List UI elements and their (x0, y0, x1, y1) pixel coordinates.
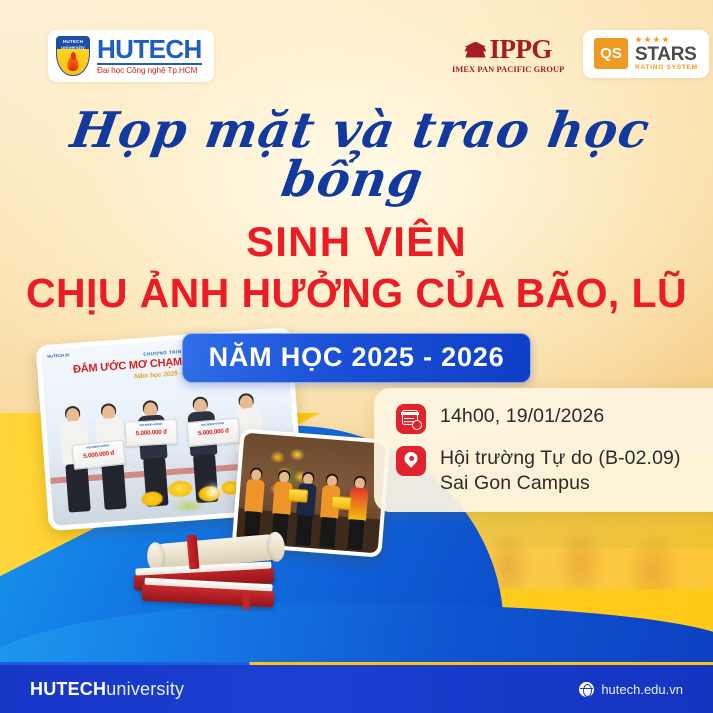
person-legs (101, 461, 126, 510)
event-info-card: 14h00, 19/01/2026 Hội trường Tự do (B-02… (374, 388, 713, 512)
award-plaque (331, 496, 352, 511)
poster-canvas: học bổng Lương Văn Can HUTECH university… (0, 0, 713, 713)
info-row-venue: Hội trường Tự do (B-02.09) Sai Gon Campu… (396, 446, 713, 496)
cheque-header: HỌC BỔNG HUTECH (126, 422, 176, 428)
qs-stars-icons (635, 36, 698, 43)
book-bottom (142, 584, 275, 608)
award-plaque (287, 488, 308, 503)
map-pin-icon (396, 446, 426, 476)
person-legs (347, 519, 364, 550)
person-body (244, 479, 265, 513)
books-and-diploma (128, 525, 318, 620)
cheque-amount: 5.000.000 đ (136, 429, 167, 438)
pin-glyph (402, 449, 420, 467)
flame-icon (68, 56, 79, 71)
headline-red-line-1: SINH VIÊN (0, 220, 713, 264)
footer-bar: HUTECHuniversity hutech.edu.vn (0, 665, 713, 713)
cheque-amount: 5.000.000 đ (83, 450, 114, 460)
headline-red-line-2: CHỊU ẢNH HƯỞNG CỦA BÃO, LŨ (0, 272, 713, 315)
person-legs (319, 517, 336, 548)
star-icon (644, 36, 651, 43)
ippg-word: IPPG (489, 36, 552, 63)
qs-tagline: RATING SYSTEM (635, 65, 698, 72)
person-legs (65, 463, 90, 512)
shield-sub-label: university (57, 45, 89, 51)
qs-text-block: STARS RATING SYSTEM (635, 36, 698, 72)
cheque-header: HỌC BỔNG HUTECH (73, 443, 123, 451)
bookmark-icon (242, 595, 250, 612)
academic-year-badge: NĂM HỌC 2025 - 2026 (182, 333, 532, 383)
flower-arrangement (126, 466, 249, 519)
globe-icon (579, 682, 594, 697)
star-icon (662, 36, 669, 43)
venue-line-1: Hội trường Tự do (B-02.09) (440, 447, 681, 469)
hutech-logo: HUTECH university HUTECH Đại học Công ng… (48, 30, 214, 82)
hutech-shield-icon: HUTECH university (56, 36, 90, 76)
qs-stars-logo: QS STARS RATING SYSTEM (583, 30, 709, 78)
info-row-datetime: 14h00, 19/01/2026 (396, 404, 713, 434)
ippg-row: IPPG (464, 36, 552, 63)
calendar-clock-icon (396, 404, 426, 434)
cheque-amount: 5.000.000 đ (198, 427, 229, 437)
footer-brand: HUTECHuniversity (30, 679, 184, 700)
cheque: HỌC BỔNG HUTECH 5.000.000 đ (125, 419, 178, 447)
star-icon (635, 36, 642, 43)
footer-brand-bold: HUTECH (30, 679, 106, 699)
ippg-crown-icon (464, 42, 486, 58)
ippg-tagline: IMEX PAN PACIFIC GROUP (452, 65, 564, 74)
qs-word: STARS (635, 45, 698, 64)
hutech-wordmark: HUTECH Đại học Công nghệ Tp.HCM (97, 36, 202, 75)
cheque: HỌC BỔNG HUTECH 5.000.000 đ (186, 418, 240, 448)
cheque-header: HỌC BỔNG HUTECH (188, 421, 238, 429)
venue-line-2: Sai Gon Campus (440, 472, 590, 494)
qs-badge: QS (594, 38, 628, 69)
ippg-logo: IPPG IMEX PAN PACIFIC GROUP (452, 36, 564, 74)
event-datetime: 14h00, 19/01/2026 (440, 404, 604, 429)
footer-website[interactable]: hutech.edu.vn (579, 682, 683, 697)
footer-brand-light: university (106, 679, 184, 699)
clock-glyph (412, 420, 422, 430)
headline-block: Họp mặt và trao học bổng SINH VIÊN CHỊU … (0, 106, 713, 383)
logo-strip: HUTECH university HUTECH Đại học Công ng… (0, 0, 713, 110)
star-icon (653, 36, 660, 43)
headline-script: Họp mặt và trao học bổng (0, 106, 713, 204)
event-venue: Hội trường Tự do (B-02.09) Sai Gon Campu… (440, 446, 681, 496)
hutech-tagline: Đại học Công nghệ Tp.HCM (97, 67, 202, 75)
hutech-word: HUTECH (97, 36, 202, 65)
footer-website-text: hutech.edu.vn (601, 682, 683, 697)
